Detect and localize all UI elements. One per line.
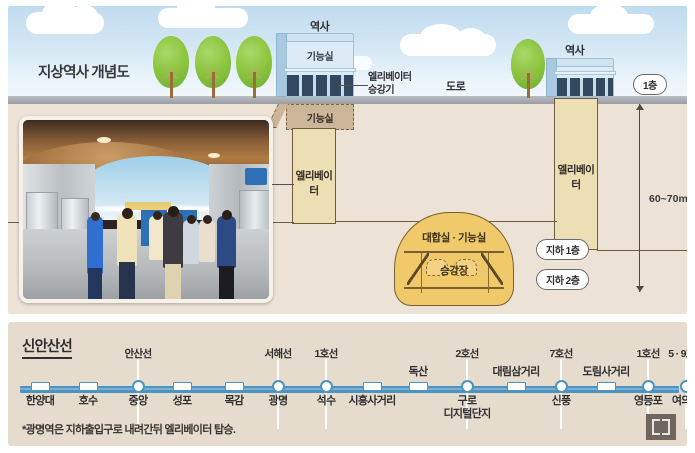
station-marker[interactable] <box>132 380 145 393</box>
road-label: 도로 <box>446 78 465 94</box>
elevator-label-left: 엘리베이터 <box>293 168 335 198</box>
photo-person-legs <box>119 262 135 302</box>
elevator-shaft-right: 엘리베이터 <box>554 98 598 250</box>
station-name[interactable]: 광명 <box>269 395 288 408</box>
station-marker[interactable] <box>409 382 428 391</box>
diagram-title: 지상역사 개념도 <box>38 61 129 82</box>
depth-value: 60~70m <box>648 191 687 207</box>
station-marker[interactable] <box>363 382 382 391</box>
photo-person-head <box>203 215 212 224</box>
function-room-label-above: 기능실 <box>287 48 353 63</box>
station-marker[interactable] <box>272 380 285 393</box>
tree-icon <box>195 36 231 98</box>
escalator-right-icon <box>481 253 503 285</box>
station-marker[interactable] <box>507 382 526 391</box>
elevator-lift-label-line2: 승강기 <box>368 81 394 96</box>
station-marker[interactable] <box>173 382 192 391</box>
photo-person-head <box>222 210 232 220</box>
building-face <box>556 66 614 97</box>
station-marker[interactable] <box>225 382 244 391</box>
transfer-line-label: 1호선 <box>314 346 337 361</box>
floor-badge-b1: 지하 1층 <box>536 239 589 260</box>
photo-person-head <box>153 211 162 220</box>
building-face: 기능실 <box>286 41 354 97</box>
photo-person-head <box>122 208 133 219</box>
transfer-line-label: 5 · 9호선 <box>668 346 687 361</box>
photo-person-legs <box>165 264 181 303</box>
station-name[interactable]: 구로디지털단지 <box>443 395 490 421</box>
photo-person <box>217 216 236 268</box>
cloud-icon <box>70 6 98 27</box>
station-name[interactable]: 독산 <box>409 366 428 379</box>
station-marker[interactable] <box>642 380 655 393</box>
map-caption: *광명역은 지하출입구로 내려간뒤 엘리베이터 탑승. <box>22 421 235 437</box>
station-name[interactable]: 한양대 <box>26 395 54 408</box>
concourse-floor-right <box>597 250 687 251</box>
transfer-guide-line <box>560 359 562 429</box>
tree-icon <box>511 39 545 98</box>
station-name[interactable]: 중앙 <box>129 395 148 408</box>
transfer-line-label: 서해선 <box>265 346 292 361</box>
transfer-line-label: 1호선 <box>636 346 659 361</box>
station-label-right: 역사 <box>565 42 584 58</box>
function-room-label-below: 기능실 <box>287 110 353 125</box>
photo-person <box>199 220 215 262</box>
transfer-line-label: 7호선 <box>549 346 572 361</box>
photo-person <box>87 216 103 274</box>
transfer-line-label: 2호선 <box>455 346 478 361</box>
depth-arrow-down-icon <box>636 286 644 292</box>
station-marker[interactable] <box>597 382 616 391</box>
escalator-left-icon <box>407 253 429 285</box>
elevator-label-right: 엘리베이터 <box>555 162 597 192</box>
expand-icon[interactable] <box>646 414 676 440</box>
tree-icon <box>153 36 189 98</box>
transfer-guide-line <box>137 359 139 429</box>
station-name[interactable]: 신풍 <box>552 395 571 408</box>
cross-section-diagram: 지상역사 개념도 역사 기능실 <box>8 6 687 314</box>
station-name[interactable]: 목감 <box>225 395 244 408</box>
station-name[interactable]: 여의도 <box>672 395 687 408</box>
transfer-line-label: 안산선 <box>125 346 152 361</box>
floor-badge-1f: 1층 <box>633 74 667 95</box>
photo-wall-sign <box>245 168 267 185</box>
photo-person-legs <box>88 268 102 300</box>
station-marker[interactable] <box>461 380 474 393</box>
tree-icon <box>236 36 272 98</box>
line-name: 신안산선 <box>22 335 72 359</box>
transfer-guide-line <box>277 359 279 429</box>
subway-line-map: 신안산선 한양대호수안산선중앙성포목감서해선광명1호선석수시흥사거리독산2호선구… <box>8 322 687 446</box>
station-label-left: 역사 <box>310 18 329 34</box>
transfer-guide-line <box>685 359 687 429</box>
underground-station-cavern: 대합실 · 기능실 승강장 <box>394 212 514 306</box>
photo-person <box>183 220 199 264</box>
station-marker[interactable] <box>680 380 688 393</box>
underground-function-room: 기능실 <box>286 104 354 130</box>
transfer-guide-line <box>325 359 327 429</box>
station-name[interactable]: 대림삼거리 <box>492 366 539 379</box>
station-marker[interactable] <box>79 382 98 391</box>
station-photo <box>19 116 273 303</box>
photo-ceiling-light <box>208 153 220 158</box>
concourse-label: 대합실 · 기능실 <box>395 230 513 245</box>
building-entrance <box>557 75 613 96</box>
photo-ceiling-light <box>97 137 111 143</box>
station-marker[interactable] <box>31 382 50 391</box>
rail-line <box>20 386 679 393</box>
building-entrance <box>287 72 353 96</box>
cloud-icon <box>456 28 486 50</box>
photo-person <box>117 214 137 266</box>
infographic-root: 지상역사 개념도 역사 기능실 <box>0 0 695 453</box>
depth-axis-line <box>639 104 640 292</box>
photo-person-head <box>187 215 196 224</box>
photo-yellow-signage <box>125 202 171 210</box>
floor-badge-b2: 지하 2층 <box>536 269 589 290</box>
station-building-right <box>546 58 614 97</box>
photo-person-legs <box>219 266 234 300</box>
concourse-wall-left <box>335 128 336 222</box>
photo-person <box>163 212 183 268</box>
elevator-shaft-left: 엘리베이터 <box>292 128 336 224</box>
station-building-left: 기능실 <box>276 33 354 97</box>
station-name[interactable]: 석수 <box>317 395 336 408</box>
concourse-wall-left-lower <box>292 222 293 224</box>
depth-arrow-up-icon <box>636 104 644 110</box>
station-marker[interactable] <box>555 380 568 393</box>
station-name[interactable]: 시흥사거리 <box>348 395 395 408</box>
photo-person-head <box>91 212 100 221</box>
station-name[interactable]: 도림사거리 <box>582 366 629 379</box>
station-marker[interactable] <box>320 380 333 393</box>
station-name[interactable]: 호수 <box>79 395 98 408</box>
station-name[interactable]: 영등포 <box>634 395 662 408</box>
photo-leader-line <box>272 184 294 185</box>
photo-person-head <box>168 206 179 217</box>
elevator-callout-leader <box>338 85 368 86</box>
station-name[interactable]: 성포 <box>173 395 192 408</box>
